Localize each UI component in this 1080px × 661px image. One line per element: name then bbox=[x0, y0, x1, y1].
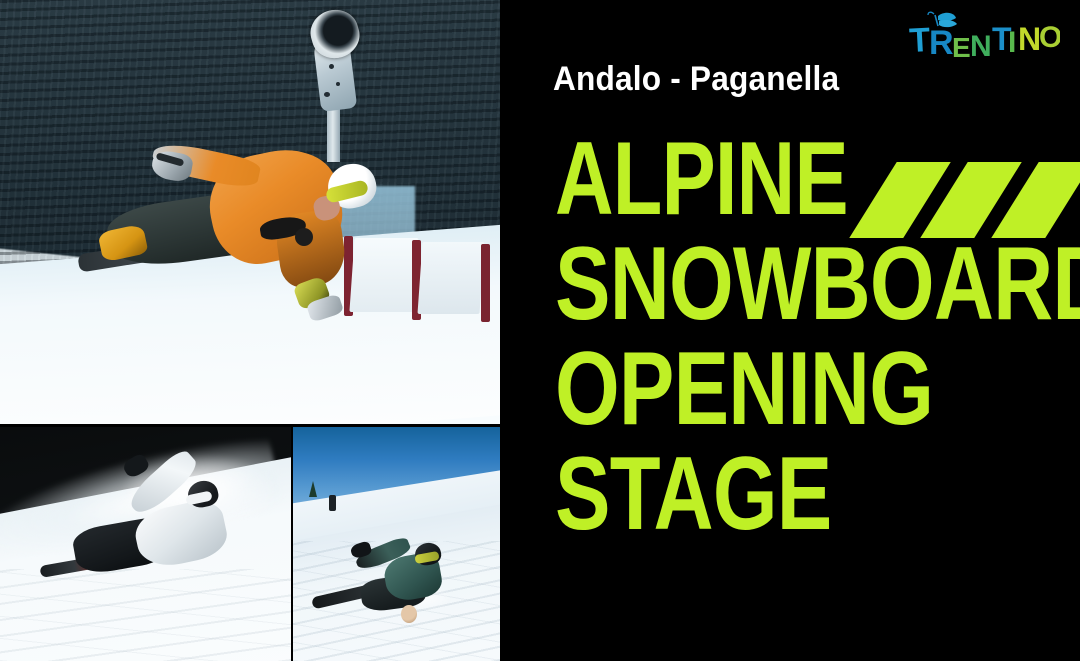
snow-tracks bbox=[0, 569, 291, 661]
svg-text:I: I bbox=[1008, 26, 1016, 59]
headline-block: ALPINE SNOWBOARD OPENING STAGE bbox=[555, 136, 1075, 556]
location-title: Andalo - Paganella bbox=[553, 62, 839, 96]
text-panel: T R E N T I N O Andalo - Paganella ALPIN… bbox=[500, 0, 1080, 661]
headline-line-stage: STAGE bbox=[555, 451, 971, 538]
headline-line-opening: OPENING bbox=[555, 346, 971, 433]
rider-badge bbox=[295, 228, 313, 246]
photo-sunny-slope-dolomites bbox=[293, 427, 500, 661]
race-gate-panel bbox=[417, 242, 484, 314]
cannon-speck bbox=[324, 92, 330, 97]
cannon-speck bbox=[329, 64, 334, 69]
photo-powder-carve-white bbox=[0, 427, 291, 661]
photo-alpine-carver-orange bbox=[0, 0, 500, 424]
distant-skier bbox=[329, 495, 336, 511]
svg-text:R: R bbox=[929, 24, 954, 62]
svg-text:N: N bbox=[970, 30, 992, 63]
race-gate-post bbox=[481, 244, 490, 322]
snowboarder-figure bbox=[60, 140, 360, 355]
photo-collage bbox=[0, 0, 500, 661]
trentino-logo[interactable]: T R E N T I N O bbox=[908, 10, 1060, 66]
slalom-gate-marker bbox=[401, 605, 417, 623]
svg-text:E: E bbox=[952, 32, 971, 63]
cannon-speck bbox=[336, 82, 340, 86]
svg-text:T: T bbox=[908, 21, 931, 60]
snow-cannon-icon bbox=[303, 4, 365, 154]
headline-row-4: STAGE bbox=[555, 451, 1075, 556]
svg-text:N: N bbox=[1018, 21, 1041, 57]
svg-text:O: O bbox=[1039, 21, 1060, 54]
headline-line-snowboard: SNOWBOARD bbox=[555, 241, 971, 328]
poster-canvas: T R E N T I N O Andalo - Paganella ALPIN… bbox=[0, 0, 1080, 661]
